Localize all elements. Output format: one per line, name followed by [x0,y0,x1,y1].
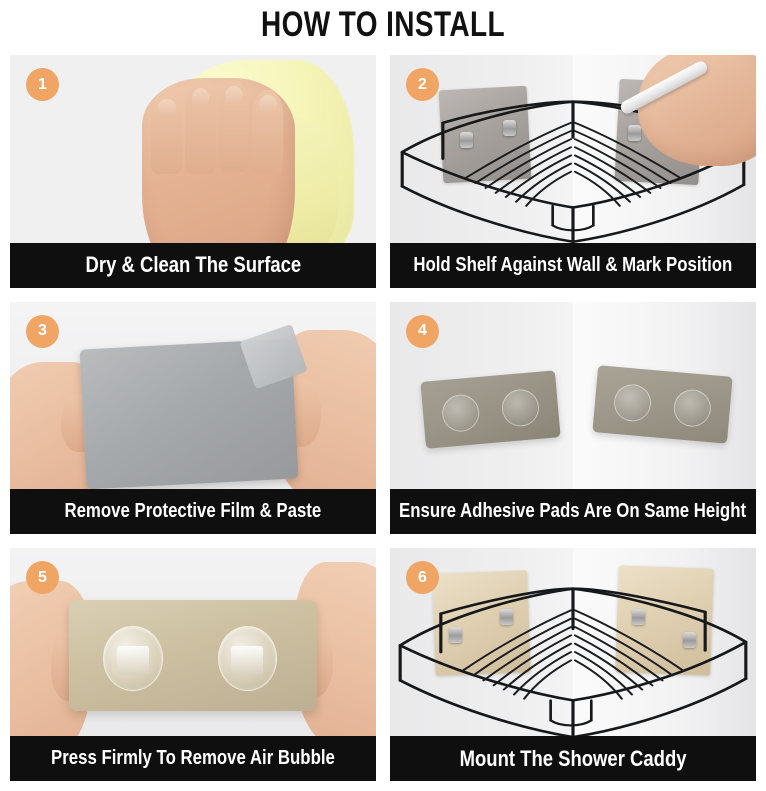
step-panel-6: 6 Mount The Shower Caddy [390,548,756,781]
step-caption-6: Mount The Shower Caddy [390,736,756,781]
adhesive-pad-with-film [80,338,299,489]
step-panel-4: 4 Ensure Adhesive Pads Are On Same Heigh… [390,302,756,535]
adhesive-pad-right [592,366,733,445]
cap-inner-clip [231,646,263,675]
fingernail [158,99,176,117]
how-to-install-infographic: HOW TO INSTALL 1 Dry & Clean The Surface [0,0,766,791]
step-caption-4: Ensure Adhesive Pads Are On Same Height [390,489,756,534]
mounting-emboss [500,388,540,428]
finger [151,94,182,174]
step-caption-text: Press Firmly To Remove Air Bubble [51,747,335,770]
step-caption-text: Dry & Clean The Surface [85,252,301,278]
step-number-badge-4: 4 [406,315,439,348]
step-panel-5: 5 Press Firmly To Remove Air Bubble [10,548,376,781]
step-caption-2: Hold Shelf Against Wall & Mark Position [390,243,756,288]
tan-adhesive-pad [69,600,318,712]
mounting-emboss [441,393,481,433]
fingernail [225,86,243,106]
wire-corner-caddy [390,562,756,762]
transparent-cap-right [218,626,277,691]
step-number-badge-2: 2 [406,68,439,101]
step-panel-1: 1 Dry & Clean The Surface [10,55,376,288]
mounting-emboss [612,383,652,423]
finger [219,80,250,172]
step-number-badge-3: 3 [26,315,59,348]
fingernail [192,88,210,108]
steps-grid: 1 Dry & Clean The Surface [10,55,756,781]
mounting-emboss [672,389,712,429]
step-caption-1: Dry & Clean The Surface [10,243,376,288]
cap-inner-clip [117,646,149,675]
step-caption-text: Hold Shelf Against Wall & Mark Position [414,254,733,277]
step-caption-text: Remove Protective Film & Paste [65,500,322,523]
fingernail [259,95,277,113]
transparent-cap-left [103,626,162,691]
adhesive-pad-left [420,370,561,449]
step-caption-text: Mount The Shower Caddy [460,746,687,772]
step-caption-text: Ensure Adhesive Pads Are On Same Height [400,500,747,523]
step-panel-2: 2 Hold Shelf Against Wall & Mark Positio… [390,55,756,288]
step-number-badge-1: 1 [26,68,59,101]
step-caption-3: Remove Protective Film & Paste [10,489,376,534]
finger [252,90,283,174]
page-title: HOW TO INSTALL [77,0,690,50]
finger [185,82,216,174]
step-panel-3: 3 Remove Protective Film & Paste [10,302,376,535]
step-caption-5: Press Firmly To Remove Air Bubble [10,736,376,781]
